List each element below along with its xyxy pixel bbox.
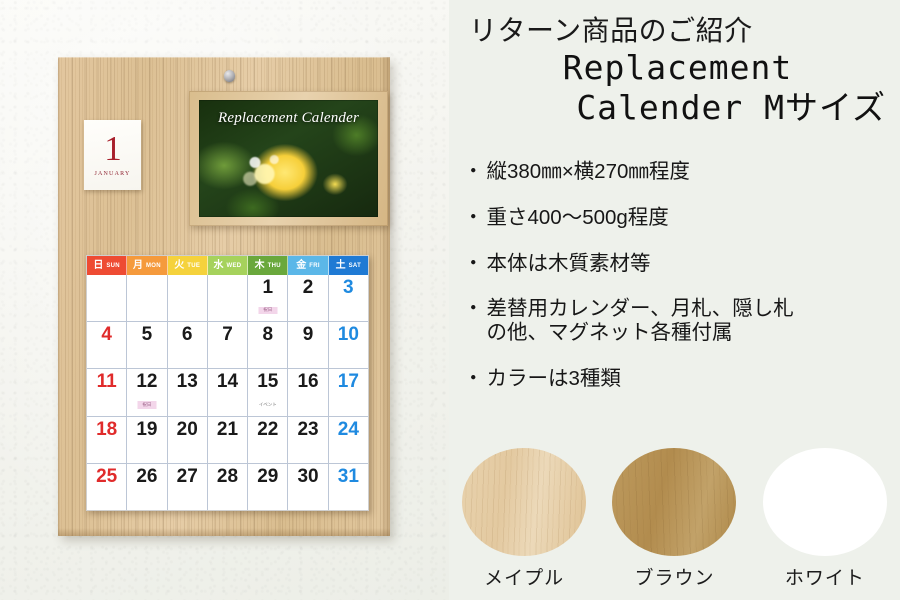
day-header-jp: 金 xyxy=(296,261,306,271)
color-swatch-row: メイプルブラウンホワイト xyxy=(449,448,900,590)
calendar-day-cell[interactable]: 7 xyxy=(208,322,248,368)
calendar-day-number: 27 xyxy=(168,467,207,486)
calendar-week-row: 1祝日23 xyxy=(87,275,368,321)
calendar-day-tag: 祝日 xyxy=(258,307,277,315)
spec-bullet-item: ・差替用カレンダー、月札、隠し札の他、マグネット各種付属 xyxy=(463,297,894,345)
calendar-day-header-sat: 土SAT xyxy=(329,256,368,275)
color-swatch-label: ホワイト xyxy=(785,563,865,590)
calendar-day-cell[interactable]: 29 xyxy=(248,464,288,510)
bullet-dot-icon: ・ xyxy=(463,252,484,276)
calendar-day-number: 13 xyxy=(168,372,207,391)
calendar-day-number: 1 xyxy=(248,278,287,297)
spec-bullet-text: カラーは3種類 xyxy=(487,367,895,391)
calendar-day-header-tue: 火TUE xyxy=(168,256,208,275)
calendar-day-number: 17 xyxy=(329,372,368,391)
calendar-day-cell[interactable]: 27 xyxy=(168,464,208,510)
calendar-day-cell[interactable]: 5 xyxy=(127,322,167,368)
calendar-day-cell[interactable] xyxy=(168,275,208,321)
color-swatch-label: ブラウン xyxy=(634,563,714,590)
title-block: リターン商品のご紹介 Replacement Calender Mサイズ xyxy=(449,14,900,129)
page-title-line2: Replacement xyxy=(449,48,900,88)
calendar-day-cell[interactable]: 12祝日 xyxy=(127,369,167,415)
calendar-week-row: 45678910 xyxy=(87,321,368,368)
calendar-day-cell[interactable]: 11 xyxy=(87,369,127,415)
calendar-day-number: 19 xyxy=(127,420,166,439)
spec-bullet-text: 本体は木質素材等 xyxy=(487,252,895,276)
calendar-day-header-sun: 日SUN xyxy=(87,256,127,275)
calendar-week-row: 25262728293031 xyxy=(87,463,368,510)
calendar-sheet: 日SUN月MON火TUE水WED木THU金FRI土SAT 1祝日23456789… xyxy=(86,255,369,511)
spec-bullet-item: ・本体は木質素材等 xyxy=(463,252,894,276)
calendar-header-row: 日SUN月MON火TUE水WED木THU金FRI土SAT xyxy=(87,256,368,275)
calendar-day-number: 26 xyxy=(127,467,166,486)
calendar-day-number: 10 xyxy=(329,325,368,344)
calendar-day-header-wed: 水WED xyxy=(208,256,248,275)
day-header-en: SAT xyxy=(349,263,361,269)
calendar-day-cell[interactable]: 16 xyxy=(288,369,328,415)
calendar-day-number: 12 xyxy=(127,372,166,391)
calendar-day-number: 23 xyxy=(288,420,327,439)
color-swatch-disc xyxy=(612,448,736,556)
calendar-day-cell[interactable]: 28 xyxy=(208,464,248,510)
calendar-day-number: 22 xyxy=(248,420,287,439)
calendar-day-cell[interactable]: 13 xyxy=(168,369,208,415)
calendar-day-cell[interactable]: 31 xyxy=(329,464,368,510)
info-panel: リターン商品のご紹介 Replacement Calender Mサイズ ・縦3… xyxy=(449,0,900,600)
bullet-dot-icon: ・ xyxy=(463,160,484,184)
calendar-day-cell[interactable] xyxy=(208,275,248,321)
calendar-day-cell[interactable]: 10 xyxy=(329,322,368,368)
calendar-day-cell[interactable]: 30 xyxy=(288,464,328,510)
calendar-day-number: 6 xyxy=(168,325,207,344)
calendar-week-row: 18192021222324 xyxy=(87,416,368,463)
calendar-grid: 1祝日23456789101112祝日131415イベント16171819202… xyxy=(87,275,368,510)
calendar-day-number: 4 xyxy=(87,325,126,344)
calendar-day-cell[interactable]: 15イベント xyxy=(248,369,288,415)
page-title-japanese: リターン商品のご紹介 xyxy=(449,14,900,48)
rose-petals xyxy=(237,149,297,197)
calendar-day-cell[interactable]: 25 xyxy=(87,464,127,510)
calendar-day-cell[interactable]: 24 xyxy=(329,417,368,463)
page-title-line3: Calender Mサイズ xyxy=(449,88,900,128)
spec-bullet-list: ・縦380㎜×横270㎜程度・重さ400〜500g程度・本体は木質素材等・差替用… xyxy=(463,160,894,413)
bullet-dot-icon: ・ xyxy=(463,367,484,391)
calendar-day-cell[interactable]: 2 xyxy=(288,275,328,321)
color-swatch-white[interactable]: ホワイト xyxy=(750,448,900,590)
calendar-day-number: 8 xyxy=(248,325,287,344)
calendar-day-number: 18 xyxy=(87,420,126,439)
calendar-day-cell[interactable]: 9 xyxy=(288,322,328,368)
bullet-dot-icon: ・ xyxy=(463,206,484,230)
day-header-en: FRI xyxy=(309,263,320,269)
calendar-day-cell[interactable]: 6 xyxy=(168,322,208,368)
color-swatch-brown[interactable]: ブラウン xyxy=(599,448,749,590)
calendar-day-number: 21 xyxy=(208,420,247,439)
calendar-day-number: 14 xyxy=(208,372,247,391)
slide-canvas: 1 JANUARY Replacement Calender 日SUN月MON火… xyxy=(0,0,900,600)
month-number: 1 xyxy=(104,131,121,166)
spec-bullet-item: ・縦380㎜×横270㎜程度 xyxy=(463,160,894,184)
calendar-day-cell[interactable]: 4 xyxy=(87,322,127,368)
hanging-screw-icon xyxy=(224,70,235,82)
photo-frame: Replacement Calender xyxy=(189,91,388,226)
calendar-day-cell[interactable]: 1祝日 xyxy=(248,275,288,321)
calendar-day-cell[interactable]: 18 xyxy=(87,417,127,463)
calendar-day-cell[interactable]: 22 xyxy=(248,417,288,463)
day-header-jp: 火 xyxy=(174,261,184,271)
spec-bullet-text: 縦380㎜×横270㎜程度 xyxy=(487,160,895,184)
color-swatch-disc xyxy=(763,448,887,556)
day-header-en: TUE xyxy=(187,263,200,269)
bullet-dot-icon: ・ xyxy=(463,297,484,321)
color-swatch-maple[interactable]: メイプル xyxy=(449,448,599,590)
day-header-jp: 月 xyxy=(133,261,143,271)
calendar-day-header-thu: 木THU xyxy=(248,256,288,275)
calendar-day-cell[interactable]: 17 xyxy=(329,369,368,415)
day-header-jp: 水 xyxy=(214,261,224,271)
month-card: 1 JANUARY xyxy=(84,120,141,190)
calendar-day-number: 20 xyxy=(168,420,207,439)
day-header-en: SUN xyxy=(106,263,120,269)
spec-bullet-item: ・重さ400〜500g程度 xyxy=(463,206,894,230)
calendar-day-cell[interactable] xyxy=(127,275,167,321)
rose-photo: Replacement Calender xyxy=(199,100,378,217)
month-name: JANUARY xyxy=(94,171,130,177)
calendar-day-number: 9 xyxy=(288,325,327,344)
calendar-day-number: 25 xyxy=(87,467,126,486)
board-bottom-edge-shade xyxy=(58,528,390,536)
calendar-day-number: 2 xyxy=(288,278,327,297)
day-header-en: MON xyxy=(146,263,161,269)
calendar-day-cell[interactable]: 20 xyxy=(168,417,208,463)
calendar-day-number: 15 xyxy=(248,372,287,391)
calendar-day-cell[interactable]: 21 xyxy=(208,417,248,463)
day-header-jp: 木 xyxy=(255,261,265,271)
photo-caption: Replacement Calender xyxy=(199,110,378,127)
calendar-day-cell[interactable]: 26 xyxy=(127,464,167,510)
day-header-jp: 日 xyxy=(93,261,103,271)
wooden-calendar-board: 1 JANUARY Replacement Calender 日SUN月MON火… xyxy=(58,57,390,536)
day-header-en: WED xyxy=(227,263,242,269)
calendar-day-number: 3 xyxy=(329,278,368,297)
calendar-day-number: 31 xyxy=(329,467,368,486)
calendar-day-cell[interactable]: 19 xyxy=(127,417,167,463)
color-swatch-label: メイプル xyxy=(484,563,564,590)
calendar-day-header-fri: 金FRI xyxy=(288,256,328,275)
calendar-day-number: 24 xyxy=(329,420,368,439)
calendar-day-number: 11 xyxy=(87,372,126,391)
calendar-day-cell[interactable]: 8 xyxy=(248,322,288,368)
day-header-en: THU xyxy=(268,263,281,269)
calendar-day-number: 29 xyxy=(248,467,287,486)
calendar-day-number: 7 xyxy=(208,325,247,344)
calendar-day-number: 16 xyxy=(288,372,327,391)
calendar-day-cell[interactable]: 3 xyxy=(329,275,368,321)
spec-bullet-text: 差替用カレンダー、月札、隠し札の他、マグネット各種付属 xyxy=(487,297,895,345)
product-photo-panel: 1 JANUARY Replacement Calender 日SUN月MON火… xyxy=(0,0,449,600)
calendar-day-number: 28 xyxy=(208,467,247,486)
color-swatch-disc xyxy=(462,448,586,556)
calendar-day-tag: イベント xyxy=(254,401,282,409)
calendar-day-number: 30 xyxy=(288,467,327,486)
spec-bullet-text: 重さ400〜500g程度 xyxy=(487,206,895,230)
spec-bullet-item: ・カラーは3種類 xyxy=(463,367,894,391)
calendar-day-header-mon: 月MON xyxy=(127,256,167,275)
calendar-day-cell[interactable]: 23 xyxy=(288,417,328,463)
calendar-day-cell[interactable]: 14 xyxy=(208,369,248,415)
calendar-day-number: 5 xyxy=(127,325,166,344)
day-header-jp: 土 xyxy=(336,261,346,271)
calendar-week-row: 1112祝日131415イベント1617 xyxy=(87,368,368,415)
calendar-day-tag: 祝日 xyxy=(137,401,156,409)
calendar-day-cell[interactable] xyxy=(87,275,127,321)
